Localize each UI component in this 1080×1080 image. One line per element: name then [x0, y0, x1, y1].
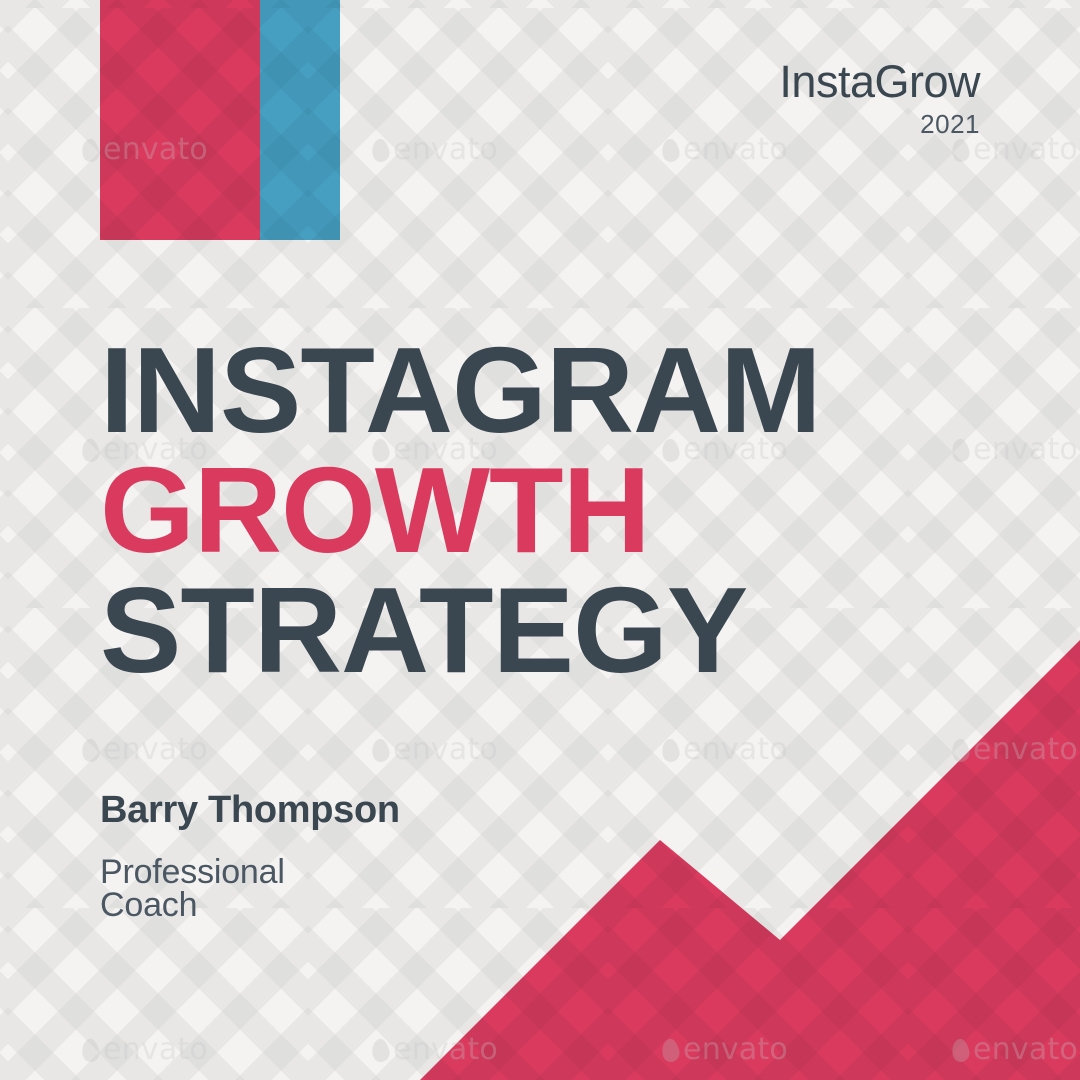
headline-block: INSTAGRAM GROWTH STRATEGY	[100, 330, 821, 690]
envato-leaf-icon	[660, 1037, 681, 1063]
envato-leaf-icon	[950, 1037, 971, 1063]
logo-bar-blue	[260, 0, 340, 240]
brand-logo-mark	[100, 0, 340, 240]
envato-watermark-label: envato	[973, 135, 1078, 165]
envato-leaf-icon	[370, 1037, 391, 1063]
author-role-line-1: Professional	[100, 856, 400, 889]
envato-watermark: envato	[372, 735, 498, 765]
envato-leaf-icon	[950, 737, 971, 763]
envato-watermark-label: envato	[683, 1035, 788, 1065]
logo-bar-red	[100, 0, 260, 240]
brand-block: InstaGrow 2021	[779, 58, 980, 137]
envato-watermark-label: envato	[973, 1035, 1078, 1065]
envato-watermark: envato	[662, 135, 788, 165]
author-name: Barry Thompson	[100, 790, 400, 832]
envato-leaf-icon	[660, 737, 681, 763]
envato-watermark: envato	[372, 135, 498, 165]
envato-watermark: envato	[952, 135, 1078, 165]
envato-watermark-label: envato	[683, 735, 788, 765]
envato-leaf-icon	[950, 437, 971, 463]
envato-watermark: envato	[82, 1035, 208, 1065]
envato-watermark-label: envato	[393, 735, 498, 765]
headline-line-1: INSTAGRAM	[100, 330, 821, 450]
envato-leaf-icon	[950, 137, 971, 163]
author-block: Barry Thompson Professional Coach	[100, 790, 400, 922]
envato-watermark-label: envato	[973, 735, 1078, 765]
envato-leaf-icon	[370, 737, 391, 763]
brand-name: InstaGrow	[779, 58, 980, 105]
brand-year: 2021	[779, 111, 980, 137]
envato-watermark-label: envato	[103, 1035, 208, 1065]
envato-watermark: envato	[952, 435, 1078, 465]
envato-watermark-label: envato	[103, 735, 208, 765]
envato-watermark-label: envato	[683, 135, 788, 165]
headline-line-2: GROWTH	[100, 450, 821, 570]
envato-leaf-icon	[80, 137, 101, 163]
envato-watermark: envato	[662, 1035, 788, 1065]
headline-line-3: STRATEGY	[100, 570, 821, 690]
author-role-line-2: Coach	[100, 889, 400, 922]
envato-watermark: envato	[662, 735, 788, 765]
envato-watermark: envato	[952, 735, 1078, 765]
poster-canvas: envatoenvatoenvatoenvatoenvatoenvatoenva…	[0, 0, 1080, 1080]
author-role: Professional Coach	[100, 856, 400, 922]
envato-watermark: envato	[82, 735, 208, 765]
envato-watermark: envato	[952, 1035, 1078, 1065]
envato-leaf-icon	[660, 137, 681, 163]
envato-leaf-icon	[80, 437, 101, 463]
envato-leaf-icon	[80, 737, 101, 763]
envato-watermark-label: envato	[393, 1035, 498, 1065]
envato-watermark-label: envato	[973, 435, 1078, 465]
envato-leaf-icon	[80, 1037, 101, 1063]
envato-leaf-icon	[370, 137, 391, 163]
envato-watermark-label: envato	[393, 135, 498, 165]
envato-watermark: envato	[372, 1035, 498, 1065]
